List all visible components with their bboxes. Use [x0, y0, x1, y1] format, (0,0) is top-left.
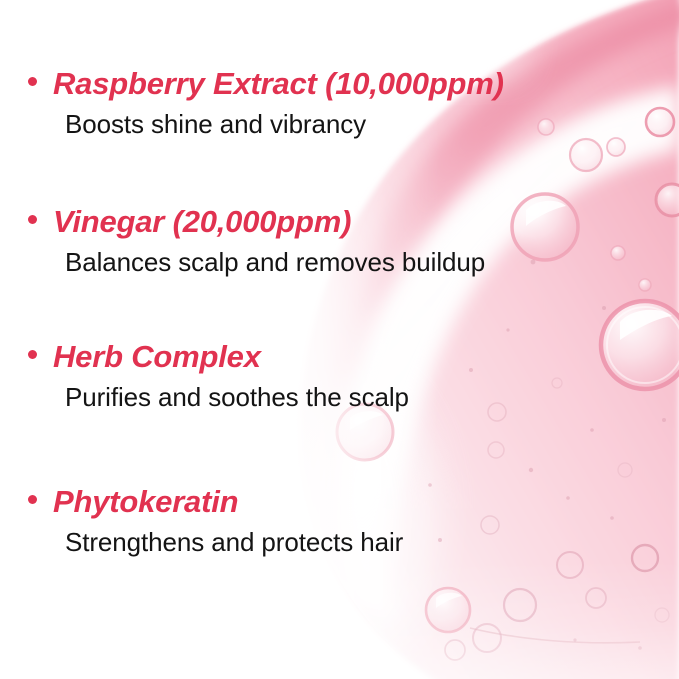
list-item: Vinegar (20,000ppm) Balances scalp and r… — [28, 206, 485, 277]
bullet-heading-row: Raspberry Extract (10,000ppm) — [28, 68, 504, 101]
product-ingredient-graphic: Raspberry Extract (10,000ppm) Boosts shi… — [0, 0, 679, 679]
ingredient-description: Boosts shine and vibrancy — [65, 110, 504, 140]
bullet-dot-icon — [28, 77, 37, 86]
ingredient-description: Strengthens and protects hair — [65, 528, 403, 558]
list-item: Raspberry Extract (10,000ppm) Boosts shi… — [28, 68, 504, 139]
bullet-dot-icon — [28, 495, 37, 504]
bullet-heading-row: Herb Complex — [28, 341, 409, 374]
ingredient-title: Vinegar (20,000ppm) — [53, 206, 351, 239]
bullet-dot-icon — [28, 350, 37, 359]
ingredient-title: Raspberry Extract (10,000ppm) — [53, 68, 504, 101]
list-item: Phytokeratin Strengthens and protects ha… — [28, 486, 403, 557]
ingredient-title: Phytokeratin — [53, 486, 238, 519]
bullet-heading-row: Vinegar (20,000ppm) — [28, 206, 485, 239]
bullet-dot-icon — [28, 215, 37, 224]
list-item: Herb Complex Purifies and soothes the sc… — [28, 341, 409, 412]
ingredient-description: Purifies and soothes the scalp — [65, 383, 409, 413]
ingredient-bullet-list: Raspberry Extract (10,000ppm) Boosts shi… — [0, 0, 679, 679]
ingredient-title: Herb Complex — [53, 341, 261, 374]
ingredient-description: Balances scalp and removes buildup — [65, 248, 485, 278]
bullet-heading-row: Phytokeratin — [28, 486, 403, 519]
